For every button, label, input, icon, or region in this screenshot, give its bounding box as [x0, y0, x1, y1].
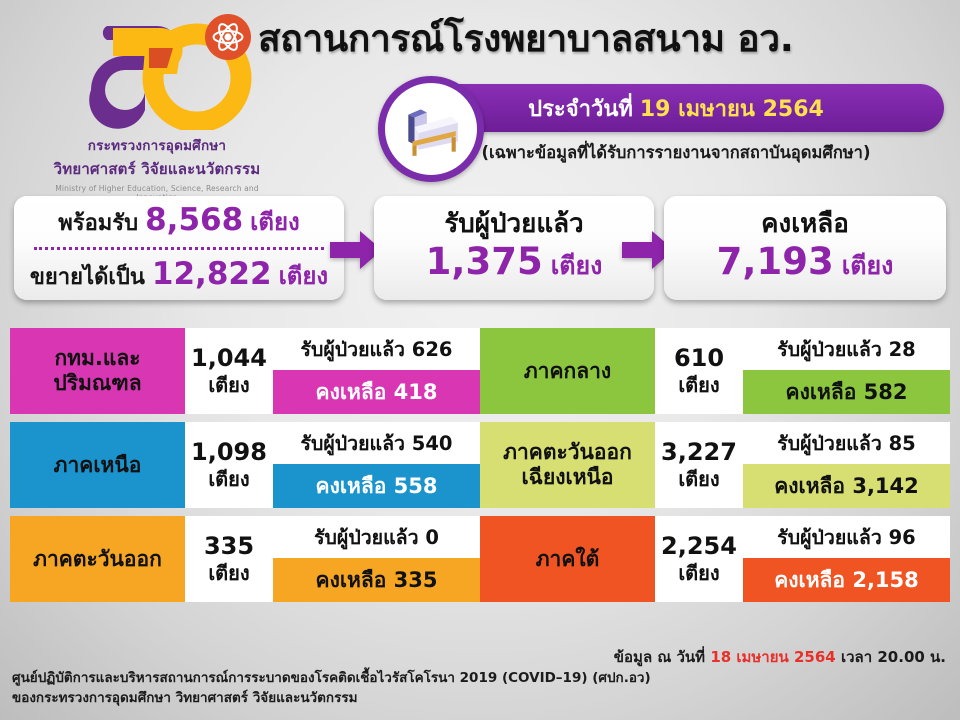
- as-of-time: เวลา 20.00 น.: [841, 648, 946, 666]
- region-cell: ภาคกลาง610เตียงรับผู้ป่วยแล้ว 28คงเหลือ …: [480, 328, 950, 414]
- region-remaining: คงเหลือ 558: [273, 464, 480, 508]
- page-title: สถานการณ์โรงพยาบาลสนาม อว.: [258, 18, 952, 61]
- beds-unit: เตียง: [678, 467, 719, 491]
- beds-count: 1,044: [191, 345, 267, 371]
- region-cell: ภาคตะวันออกเฉียงเหนือ3,227เตียงรับผู้ป่ว…: [480, 422, 950, 508]
- region-name-label: ภาคตะวันออกเฉียงเหนือ: [480, 422, 655, 508]
- hospital-bed-icon: [378, 76, 484, 182]
- beds-count: 3,227: [661, 439, 737, 465]
- region-remaining: คงเหลือ 335: [273, 558, 480, 602]
- report-scope-note: (เฉพาะข้อมูลที่ได้รับการรายงานจากสถาบันอ…: [408, 140, 944, 166]
- region-remaining: คงเหลือ 418: [273, 370, 480, 414]
- table-row: กทม.และปริมณฑล1,044เตียงรับผู้ป่วยแล้ว 6…: [10, 328, 950, 414]
- region-stats: รับผู้ป่วยแล้ว 626คงเหลือ 418: [273, 328, 480, 414]
- ministry-logo: กระทรวงการอุดมศึกษา วิทยาศาสตร์ วิจัยและ…: [42, 18, 272, 190]
- expand-label: ขยายได้เป็น: [30, 259, 145, 294]
- admitted-value: 1,375: [426, 240, 543, 283]
- beds-unit: เตียง: [208, 561, 249, 585]
- region-name-label: กทม.และปริมณฑล: [10, 328, 185, 414]
- region-remaining: คงเหลือ 3,142: [743, 464, 950, 508]
- region-admitted: รับผู้ป่วยแล้ว 85: [743, 422, 950, 464]
- region-stats: รับผู้ป่วยแล้ว 96คงเหลือ 2,158: [743, 516, 950, 602]
- region-table: กทม.และปริมณฑล1,044เตียงรับผู้ป่วยแล้ว 6…: [10, 328, 950, 610]
- region-name-label: ภาคใต้: [480, 516, 655, 602]
- region-beds-total: 1,098เตียง: [185, 422, 273, 508]
- footer-line-1: ศูนย์ปฏิบัติการและบริหารสถานการณ์การระบา…: [12, 668, 752, 688]
- as-of-date: 18 เมษายน 2564: [710, 648, 835, 666]
- remaining-title: คงเหลือ: [761, 210, 849, 239]
- footer-line-2: ของกระทรวงการอุดมศึกษา วิทยาศาสตร์ วิจัย…: [12, 688, 752, 708]
- remaining-unit: เตียง: [842, 246, 894, 286]
- admitted-title: รับผู้ป่วยแล้ว: [444, 210, 583, 239]
- region-name-label: ภาคตะวันออก: [10, 516, 185, 602]
- beds-unit: เตียง: [208, 373, 249, 397]
- region-stats: รับผู้ป่วยแล้ว 0คงเหลือ 335: [273, 516, 480, 602]
- date-prefix-label: ประจำวันที่: [528, 91, 633, 126]
- admitted-unit: เตียง: [551, 246, 603, 286]
- ready-label: พร้อมรับ: [58, 205, 138, 240]
- expand-value: 12,822: [152, 256, 272, 292]
- admitted-card: รับผู้ป่วยแล้ว 1,375 เตียง: [374, 196, 654, 300]
- date-banner: ประจำวันที่ 19 เมษายน 2564: [408, 84, 944, 132]
- atom-icon: [205, 14, 251, 60]
- as-of-timestamp: ข้อมูล ณ วันที่ 18 เมษายน 2564 เวลา 20.0…: [614, 645, 946, 669]
- beds-count: 335: [204, 533, 254, 559]
- footer-credits: ศูนย์ปฏิบัติการและบริหารสถานการณ์การระบา…: [12, 668, 752, 709]
- region-beds-total: 3,227เตียง: [655, 422, 743, 508]
- table-row: ภาคตะวันออก335เตียงรับผู้ป่วยแล้ว 0คงเหล…: [10, 516, 950, 602]
- remaining-value: 7,193: [717, 240, 834, 283]
- region-beds-total: 2,254เตียง: [655, 516, 743, 602]
- region-cell: ภาคตะวันออก335เตียงรับผู้ป่วยแล้ว 0คงเหล…: [10, 516, 480, 602]
- card-divider: [34, 247, 324, 250]
- beds-count: 610: [674, 345, 724, 371]
- ready-unit: เตียง: [250, 202, 300, 241]
- region-stats: รับผู้ป่วยแล้ว 85คงเหลือ 3,142: [743, 422, 950, 508]
- summary-cards: พร้อมรับ 8,568 เตียง ขยายได้เป็น 12,822 …: [0, 196, 960, 312]
- region-admitted: รับผู้ป่วยแล้ว 540: [273, 422, 480, 464]
- region-name-label: ภาคกลาง: [480, 328, 655, 414]
- beds-unit: เตียง: [678, 561, 719, 585]
- region-beds-total: 610เตียง: [655, 328, 743, 414]
- region-remaining: คงเหลือ 582: [743, 370, 950, 414]
- as-of-prefix: ข้อมูล ณ วันที่: [614, 648, 705, 666]
- region-beds-total: 335เตียง: [185, 516, 273, 602]
- region-remaining: คงเหลือ 2,158: [743, 558, 950, 602]
- beds-count: 2,254: [661, 533, 737, 559]
- region-name-label: ภาคเหนือ: [10, 422, 185, 508]
- region-admitted: รับผู้ป่วยแล้ว 28: [743, 328, 950, 370]
- table-row: ภาคเหนือ1,098เตียงรับผู้ป่วยแล้ว 540คงเห…: [10, 422, 950, 508]
- region-beds-total: 1,044เตียง: [185, 328, 273, 414]
- date-value: 19 เมษายน 2564: [640, 91, 824, 126]
- region-cell: ภาคใต้2,254เตียงรับผู้ป่วยแล้ว 96คงเหลือ…: [480, 516, 950, 602]
- region-stats: รับผู้ป่วยแล้ว 28คงเหลือ 582: [743, 328, 950, 414]
- logo-thai-line-1: กระทรวงการอุดมศึกษา: [42, 134, 272, 156]
- region-stats: รับผู้ป่วยแล้ว 540คงเหลือ 558: [273, 422, 480, 508]
- capacity-card: พร้อมรับ 8,568 เตียง ขยายได้เป็น 12,822 …: [14, 196, 344, 300]
- remaining-card: คงเหลือ 7,193 เตียง: [664, 196, 946, 300]
- ministry-60-logo-icon: [57, 18, 257, 130]
- infographic-root: กระทรวงการอุดมศึกษา วิทยาศาสตร์ วิจัยและ…: [0, 0, 960, 720]
- beds-count: 1,098: [191, 439, 267, 465]
- ready-value: 8,568: [145, 202, 243, 238]
- expand-unit: เตียง: [279, 256, 329, 295]
- beds-unit: เตียง: [678, 373, 719, 397]
- beds-unit: เตียง: [208, 467, 249, 491]
- region-admitted: รับผู้ป่วยแล้ว 96: [743, 516, 950, 558]
- region-admitted: รับผู้ป่วยแล้ว 626: [273, 328, 480, 370]
- region-admitted: รับผู้ป่วยแล้ว 0: [273, 516, 480, 558]
- region-cell: ภาคเหนือ1,098เตียงรับผู้ป่วยแล้ว 540คงเห…: [10, 422, 480, 508]
- region-cell: กทม.และปริมณฑล1,044เตียงรับผู้ป่วยแล้ว 6…: [10, 328, 480, 414]
- logo-thai-line-2: วิทยาศาสตร์ วิจัยและนวัตกรรม: [42, 157, 272, 181]
